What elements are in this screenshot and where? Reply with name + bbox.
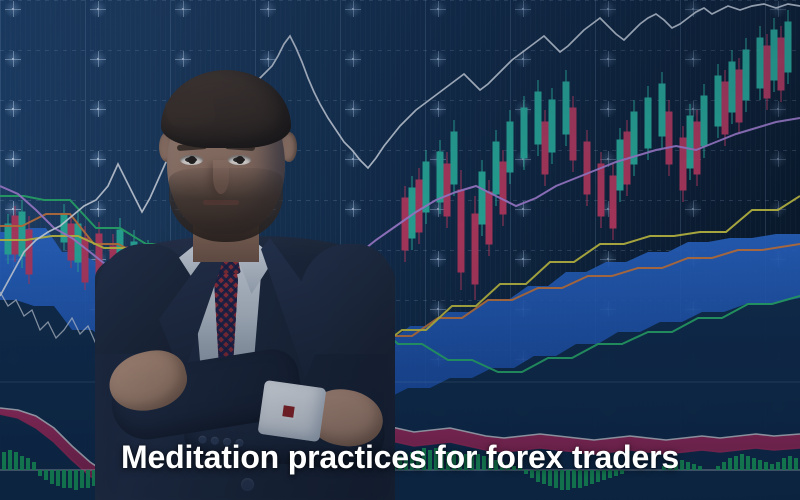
- forex-banner: Meditation practices for forex traders: [0, 0, 800, 500]
- hair: [161, 70, 291, 148]
- cufflink: [280, 403, 297, 420]
- pupil-left: [188, 156, 196, 164]
- nose: [213, 160, 229, 194]
- banner-title: Meditation practices for forex traders: [0, 439, 800, 476]
- jacket-button: [241, 478, 254, 491]
- businessman-photo: [95, 60, 395, 500]
- pupil-right: [236, 156, 244, 164]
- mouth: [203, 200, 239, 205]
